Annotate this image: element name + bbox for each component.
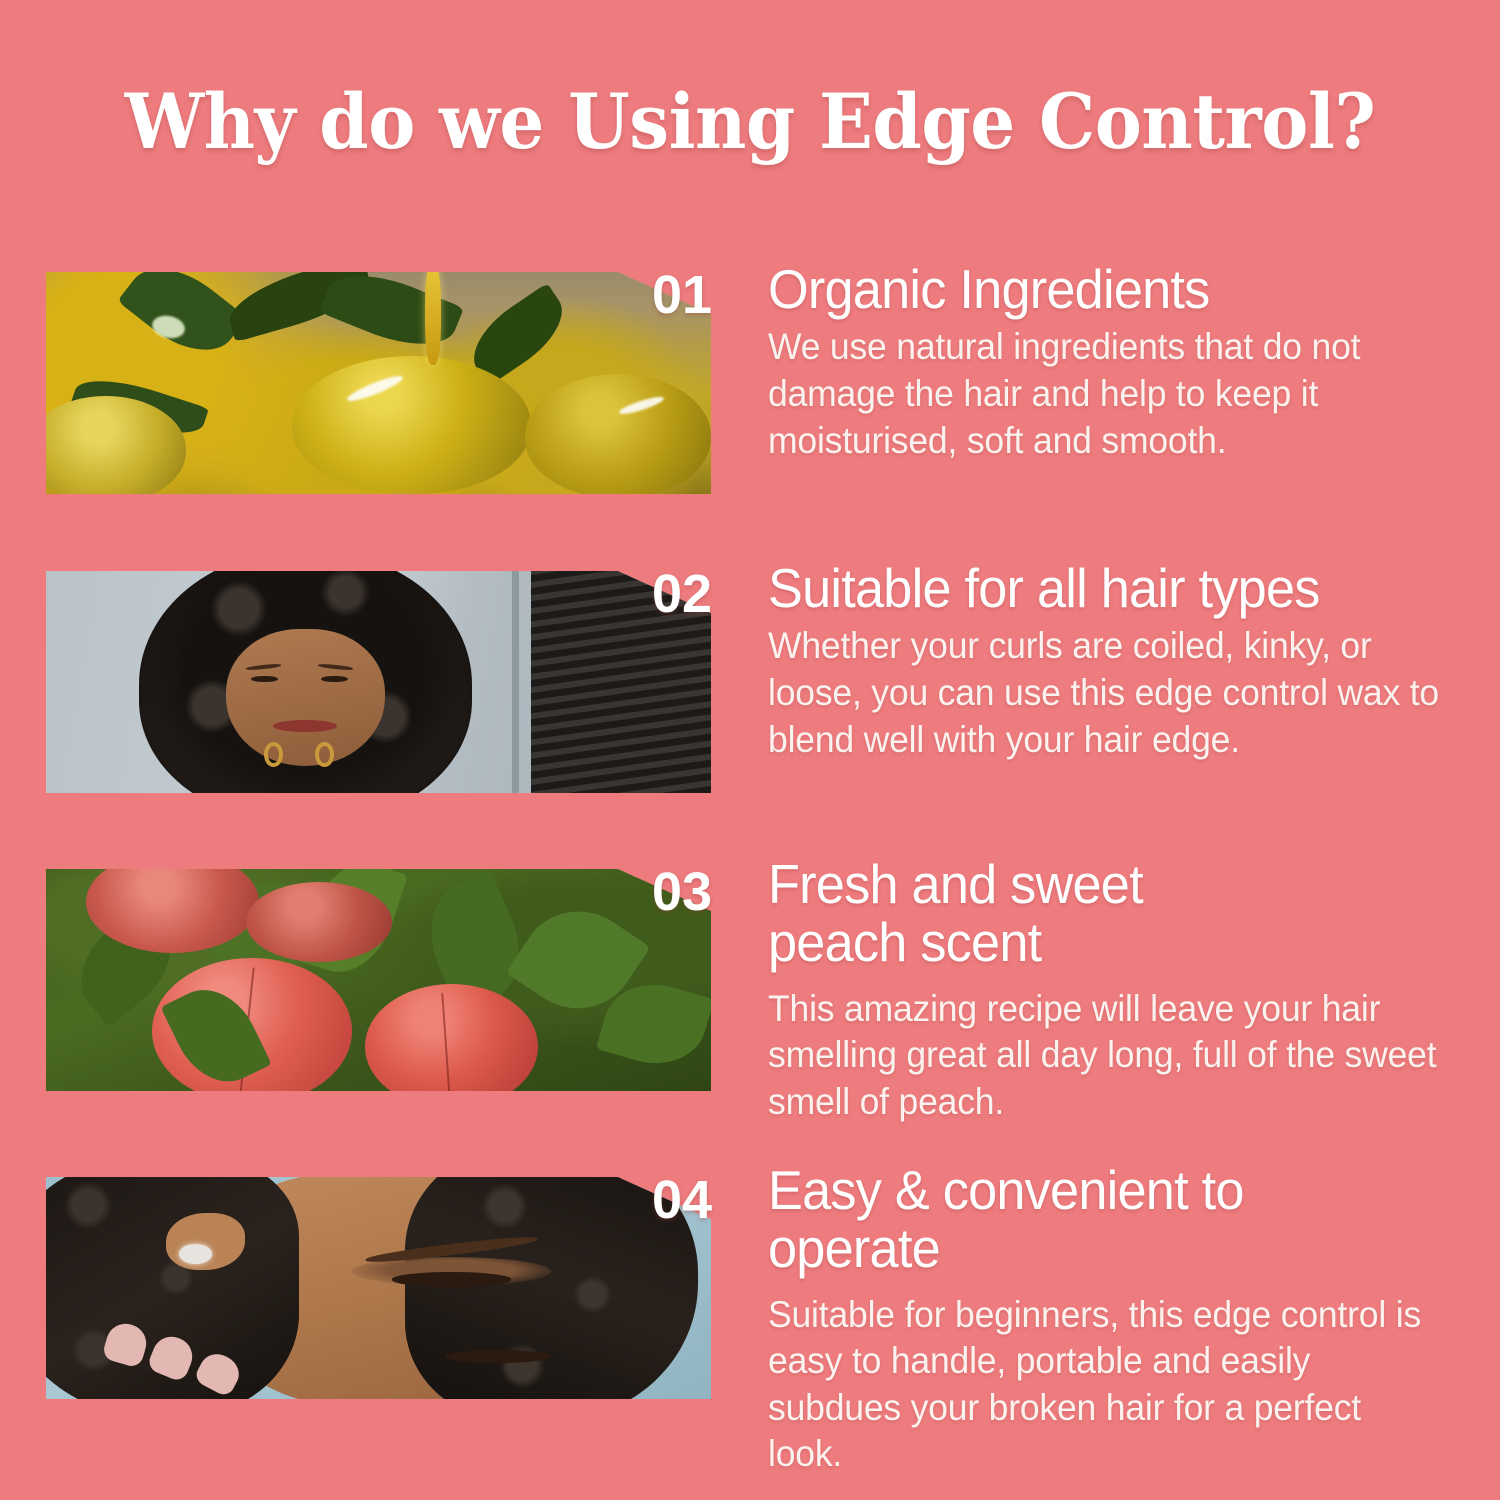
feature-number: 03 bbox=[652, 865, 752, 919]
feature-body: We use natural ingredients that do not d… bbox=[768, 324, 1440, 464]
eye bbox=[251, 676, 278, 683]
eyebrow bbox=[246, 663, 281, 671]
face bbox=[226, 629, 386, 767]
oil-stream bbox=[425, 272, 441, 365]
wall-seam bbox=[512, 571, 519, 793]
feature-body: Whether your curls are coiled, kinky, or… bbox=[768, 623, 1440, 763]
olive-fruit bbox=[525, 374, 711, 494]
feature-heading: Suitable for all hair types bbox=[768, 559, 1433, 617]
feature-copy: Easy & convenient to operate Suitable fo… bbox=[768, 1161, 1468, 1478]
infographic-poster: Why do we Using Edge Control? 01 Organic… bbox=[0, 0, 1500, 1500]
feature-body: This amazing recipe will leave your hair… bbox=[768, 986, 1440, 1126]
feature-image-hair-types bbox=[46, 571, 711, 793]
feature-image-peaches bbox=[46, 869, 711, 1091]
feature-number: 02 bbox=[652, 567, 752, 621]
feature-heading: Organic Ingredients bbox=[768, 260, 1433, 318]
feature-copy: Suitable for all hair types Whether your… bbox=[768, 559, 1468, 763]
eye bbox=[392, 1272, 512, 1286]
peach-fruit bbox=[246, 882, 392, 962]
feature-heading: Fresh and sweet peach scent bbox=[768, 855, 1433, 972]
feature-image-olives bbox=[46, 272, 711, 494]
feature-copy: Organic Ingredients We use natural ingre… bbox=[768, 260, 1468, 464]
feature-number: 04 bbox=[652, 1173, 752, 1227]
feature-number: 01 bbox=[652, 268, 752, 322]
earring-stud bbox=[179, 1244, 212, 1264]
feature-copy: Fresh and sweet peach scent This amazing… bbox=[768, 855, 1468, 1125]
feature-image-edges-closeup bbox=[46, 1177, 711, 1399]
eye bbox=[321, 676, 348, 683]
feature-heading: Easy & convenient to operate bbox=[768, 1161, 1433, 1278]
page-title: Why do we Using Edge Control? bbox=[53, 84, 1448, 160]
olive-fruit bbox=[292, 356, 531, 494]
feature-body: Suitable for beginners, this edge contro… bbox=[768, 1292, 1440, 1478]
lips bbox=[273, 720, 337, 732]
eyebrow bbox=[318, 663, 353, 671]
